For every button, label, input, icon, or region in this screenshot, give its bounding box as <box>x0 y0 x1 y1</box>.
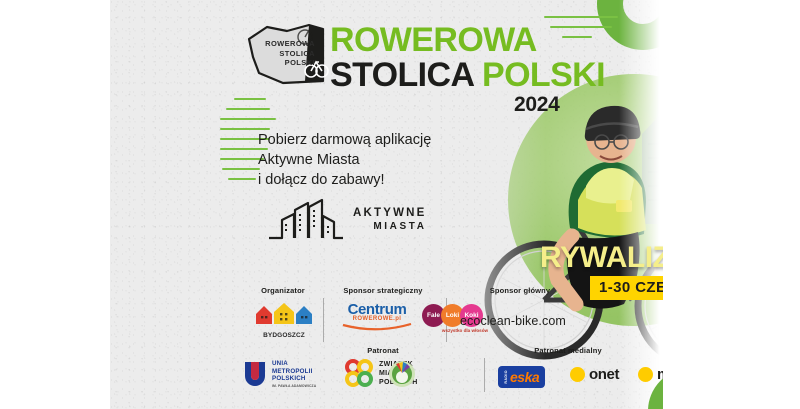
medonet-wordmark: medonet <box>657 366 663 383</box>
third-patron-logo <box>388 360 416 393</box>
strategic-sponsor-heading: Sponsor strategiczny <box>316 286 450 295</box>
medonet-dot-icon <box>638 367 653 382</box>
main-sponsor-url[interactable]: ecoclean-bike.com <box>460 314 566 328</box>
title-line-2: STOLICA POLSKI <box>330 57 605 93</box>
green-circle-fan-icon <box>388 360 416 388</box>
onet-dot-icon <box>570 367 585 382</box>
lead-paragraph: Pobierz darmową aplikację Aktywne Miasta… <box>258 130 431 190</box>
onet-logo: onet <box>570 366 619 383</box>
content-panel: ROWEROWA STOLICA POLSKI ROWEROWA STOLICA… <box>110 0 663 409</box>
title-line-1: ROWEROWA <box>330 23 605 57</box>
divider-3 <box>484 358 485 392</box>
banner-root: ROWEROWA STOLICA POLSKI ROWEROWA STOLICA… <box>0 0 800 409</box>
eska-wordmark: eska <box>510 369 539 385</box>
bydgoszcz-logo: BYDGOSZCZ <box>252 302 316 339</box>
eska-logo: RADIO eska <box>498 366 545 388</box>
lead-line-2: Aktywne Miasta <box>258 150 431 170</box>
unia-metropolii-polskich-logo: UNIA METROPOLII POLSKICH IM. PAWŁA ADAMO… <box>242 360 316 388</box>
media-patronage-heading: Patronat medialny <box>508 346 628 355</box>
ump-fine-print: IM. PAWŁA ADAMOWICZA <box>272 384 316 388</box>
ump-u-mark-icon <box>242 360 268 388</box>
centrum-swoosh-icon <box>340 323 414 331</box>
sponsors-section: Organizator Sponsor strategiczny Sponsor… <box>220 286 663 409</box>
fale-tagline: wszystko dla włosów <box>422 328 508 333</box>
main-sponsor-heading: Sponsor główny <box>450 286 590 295</box>
eska-radio-label: RADIO <box>504 370 508 384</box>
title-polski: POLSKI <box>482 56 605 94</box>
bydgoszcz-wordmark: BYDGOSZCZ <box>252 332 316 339</box>
am-line-2: MIASTA <box>353 220 427 233</box>
aktywne-miasta-wordmark: AKTYWNE MIASTA <box>353 207 427 233</box>
page-title: ROWEROWA STOLICA POLSKI 2024 <box>330 23 605 115</box>
aktywne-miasta-logo: AKTYWNE MIASTA <box>268 198 427 242</box>
divider-1 <box>323 298 324 342</box>
four-rings-icon <box>344 358 374 388</box>
lead-line-3: i dołącz do zabawy! <box>258 170 431 190</box>
title-stolica: STOLICA <box>330 56 473 94</box>
rowerowa-stolica-polski-logo: ROWEROWA STOLICA POLSKI <box>243 17 341 89</box>
medonet-logo: medonet <box>638 366 663 383</box>
centrum-line-1: Centrum <box>340 302 414 317</box>
logo-text: ROWEROWA STOLICA POLSKI <box>251 39 315 68</box>
ump-line-3: POLSKICH <box>272 375 316 382</box>
bydgoszcz-granaries-icon <box>252 302 316 326</box>
patronage-heading: Patronat <box>316 346 450 355</box>
city-skyline-icon <box>268 198 344 242</box>
centrum-rowerowe-logo: Centrum ROWEROWE.pl <box>340 302 414 331</box>
lead-line-1: Pobierz darmową aplikację <box>258 130 431 150</box>
ump-line-2: METROPOLII <box>272 368 316 375</box>
ump-line-1: UNIA <box>272 360 316 367</box>
competition-title: RYWALIZACJA <box>540 243 663 273</box>
onet-wordmark: onet <box>589 366 619 383</box>
title-year: 2024 <box>514 94 605 115</box>
organizer-heading: Organizator <box>240 286 326 295</box>
am-line-1: AKTYWNE <box>353 207 427 219</box>
